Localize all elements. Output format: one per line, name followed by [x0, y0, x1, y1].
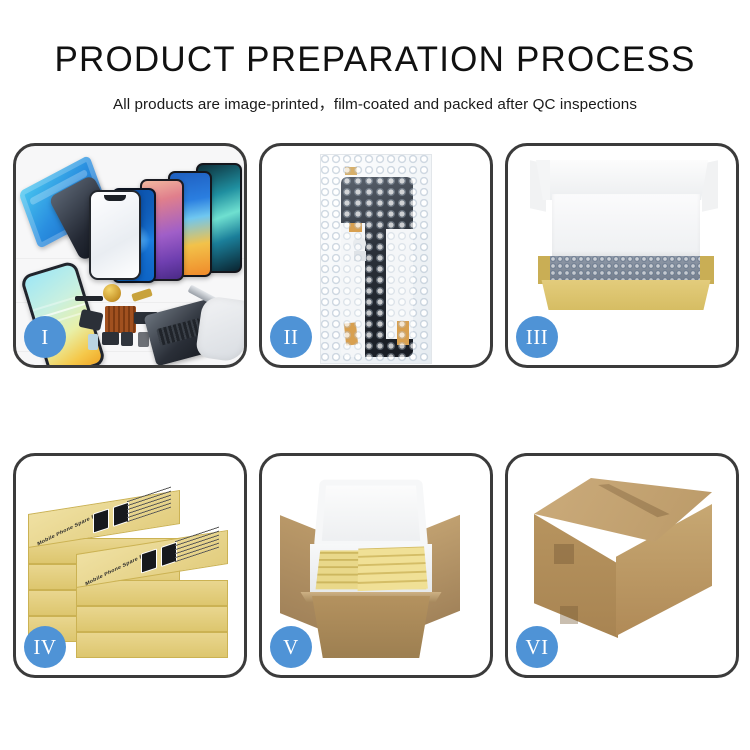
small-part-d-graphic	[102, 332, 119, 345]
foam-sheet-graphic	[552, 194, 700, 256]
step-badge-4: IV	[24, 626, 66, 668]
carton-front-graphic	[304, 596, 438, 658]
bubble-texture-overlay	[321, 155, 431, 363]
process-step-5: V	[259, 453, 493, 678]
small-part-c-graphic	[88, 334, 98, 350]
box-front-graphic	[538, 280, 714, 310]
step-badge-2: II	[270, 316, 312, 358]
step-badge-1: I	[24, 316, 66, 358]
product-preparation-page: PRODUCT PREPARATION PROCESS All products…	[0, 0, 750, 750]
tempered-glass-graphic	[89, 190, 141, 280]
vibration-motor-graphic	[103, 284, 121, 302]
foam-lid-graphic	[314, 480, 428, 549]
gold-connector-graphic	[131, 288, 152, 302]
box-side-right-graphic	[700, 256, 714, 284]
process-step-3: III	[505, 143, 739, 368]
carton-tab-lower-graphic	[560, 606, 578, 624]
small-part-e-graphic	[121, 332, 133, 346]
step-badge-6: VI	[516, 626, 558, 668]
process-step-2: II	[259, 143, 493, 368]
step-badge-5: V	[270, 626, 312, 668]
page-title: PRODUCT PREPARATION PROCESS	[0, 42, 750, 79]
process-step-grid: I II	[13, 143, 737, 677]
process-step-1: I	[13, 143, 247, 368]
process-step-6: VI	[505, 453, 739, 678]
yellow-boxes-right-graphic	[358, 546, 428, 591]
page-header: PRODUCT PREPARATION PROCESS All products…	[0, 0, 750, 114]
step-badge-3: III	[516, 316, 558, 358]
process-step-4: Mobile Phone Spare Parts Mobile Phone Sp…	[13, 453, 247, 678]
bubble-wrapped-units-graphic	[550, 256, 700, 281]
chip-grid-graphic	[105, 306, 136, 333]
bubble-bag-graphic	[320, 154, 432, 364]
flex-cable-graphic	[75, 296, 103, 301]
carton-tab-upper-graphic	[554, 544, 574, 564]
page-subtitle: All products are image-printed，film-coat…	[0, 92, 750, 114]
